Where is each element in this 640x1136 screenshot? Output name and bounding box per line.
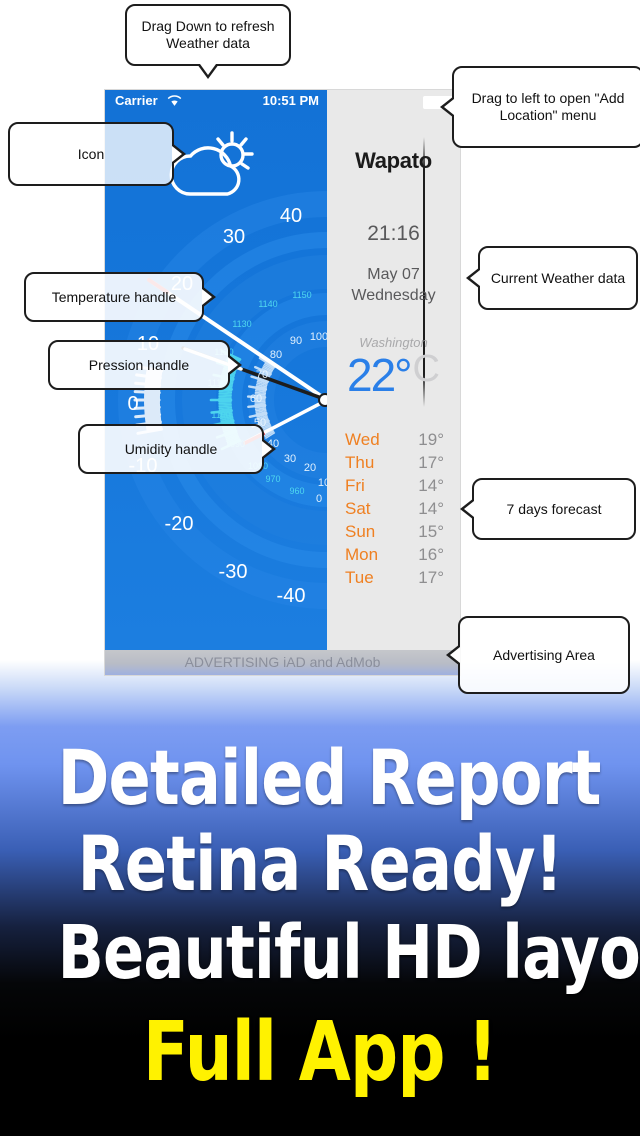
callout-pression-handle-label: Pression handle <box>89 357 189 374</box>
callout-tail <box>197 64 219 79</box>
current-temperature: 22° <box>347 349 411 401</box>
wifi-icon <box>167 94 182 107</box>
forecast-row[interactable]: Thu17° <box>327 453 460 476</box>
status-clock: 10:51 PM <box>263 93 319 108</box>
callout-icon: Icon <box>8 122 174 186</box>
callout-tail <box>262 438 276 460</box>
callout-advertising: Advertising Area <box>458 616 630 694</box>
callout-icon-label: Icon <box>78 146 104 163</box>
gauge-humid-label: 80 <box>270 349 282 361</box>
callout-tail <box>466 267 480 289</box>
forecast-temp: 19° <box>418 430 444 450</box>
callout-tail <box>228 354 242 376</box>
forecast-temp: 17° <box>418 568 444 588</box>
callout-add-location-label: Drag to left to open "Add Location" menu <box>460 90 636 124</box>
gauge-humid-label: 0 <box>316 493 322 505</box>
status-bar: Carrier 10:51 PM <box>105 90 327 112</box>
current-weather-pane[interactable]: Wapato 21:16 May 07 Wednesday Washington… <box>327 90 460 650</box>
temperature-unit: C <box>413 348 440 390</box>
promo-line-4: Full App ! <box>58 1012 583 1094</box>
gauge-humid-label: 70 <box>256 369 268 381</box>
forecast-day: Mon <box>345 545 378 565</box>
callout-refresh-label: Drag Down to refresh Weather data <box>133 18 283 52</box>
gauge-temp-label: 40 <box>280 205 302 227</box>
forecast-temp: 17° <box>418 453 444 473</box>
forecast-row[interactable]: Sat14° <box>327 499 460 522</box>
callout-pression-handle: Pression handle <box>48 340 230 390</box>
weekday-label: Wednesday <box>327 285 460 306</box>
promo-line-3: Beautiful HD layout <box>58 916 583 990</box>
gauge-press-label: 1150 <box>292 290 311 300</box>
seven-day-forecast[interactable]: Wed19°Thu17°Fri14°Sat14°Sun15°Mon16°Tue1… <box>327 430 460 591</box>
callout-tail <box>446 644 460 666</box>
forecast-row[interactable]: Mon16° <box>327 545 460 568</box>
forecast-day: Fri <box>345 476 365 496</box>
callout-temperature-handle-label: Temperature handle <box>52 289 177 306</box>
forecast-temp: 14° <box>418 499 444 519</box>
promo-line-1: Detailed Report <box>58 740 583 816</box>
gauge-temp-label: -30 <box>219 561 248 583</box>
forecast-day: Tue <box>345 568 374 588</box>
callout-tail <box>440 96 454 118</box>
forecast-temp: 14° <box>418 476 444 496</box>
gauge-press-label: 1140 <box>258 299 277 309</box>
promo-line-2: Retina Ready! <box>58 826 583 902</box>
forecast-row[interactable]: Tue17° <box>327 568 460 591</box>
callout-forecast: 7 days forecast <box>472 478 636 540</box>
advertising-bar[interactable]: ADVERTISING iAD and AdMob <box>105 650 460 675</box>
current-temperature-row: 22°C <box>327 348 460 402</box>
gauge-humid-label: 60 <box>250 393 262 405</box>
forecast-day: Thu <box>345 453 374 473</box>
gauge-temp-label: 0 <box>127 393 138 415</box>
gauge-temp-label: -40 <box>277 585 306 607</box>
forecast-row[interactable]: Sun15° <box>327 522 460 545</box>
gauge-humid-label: 100 <box>310 331 327 343</box>
callout-advertising-label: Advertising Area <box>493 647 595 664</box>
callout-forecast-label: 7 days forecast <box>507 501 602 518</box>
gauge-press-label: 1100 <box>211 410 230 420</box>
carrier-label: Carrier <box>115 93 158 108</box>
current-date: May 07 Wednesday <box>327 264 460 306</box>
forecast-day: Sun <box>345 522 375 542</box>
forecast-day: Wed <box>345 430 380 450</box>
date-label: May 07 <box>327 264 460 285</box>
gauge-humid-label: 90 <box>290 335 302 347</box>
gauge-temp-label: 30 <box>223 226 245 248</box>
callout-umidity-handle: Umidity handle <box>78 424 264 474</box>
callout-current-weather: Current Weather data <box>478 246 638 310</box>
gauge-press-label: 970 <box>265 474 280 484</box>
gauge-press-label: 960 <box>289 486 304 496</box>
callout-umidity-handle-label: Umidity handle <box>125 441 218 458</box>
forecast-temp: 16° <box>418 545 444 565</box>
gauge-temp-label: -20 <box>165 513 194 535</box>
callout-tail <box>172 143 186 165</box>
forecast-row[interactable]: Wed19° <box>327 430 460 453</box>
city-name: Wapato <box>327 148 460 174</box>
callout-current-weather-label: Current Weather data <box>491 270 625 287</box>
gauge-humid-label: 30 <box>284 453 296 465</box>
local-time: 21:16 <box>327 222 460 246</box>
callout-add-location: Drag to left to open "Add Location" menu <box>452 66 640 148</box>
promo-text-block: Detailed Report Retina Ready! Beautiful … <box>0 740 640 1094</box>
forecast-day: Sat <box>345 499 371 519</box>
forecast-temp: 15° <box>418 522 444 542</box>
callout-refresh: Drag Down to refresh Weather data <box>125 4 291 66</box>
callout-tail <box>202 286 216 308</box>
forecast-row[interactable]: Fri14° <box>327 476 460 499</box>
callout-temperature-handle: Temperature handle <box>24 272 204 322</box>
callout-tail <box>460 498 474 520</box>
gauge-humid-label: 20 <box>304 462 316 474</box>
sun-behind-cloud-icon <box>160 128 260 208</box>
gauge-humid-label: 10 <box>318 477 327 489</box>
gauge-press-label: 1130 <box>232 319 251 329</box>
